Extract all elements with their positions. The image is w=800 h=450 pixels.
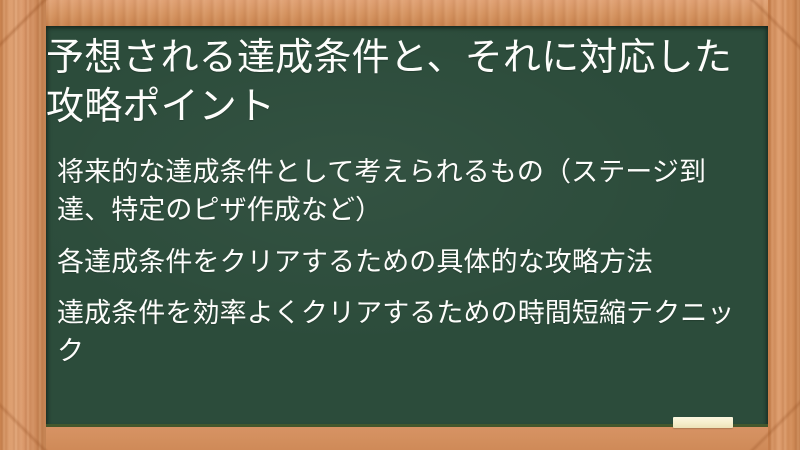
slide-bullet-list: 将来的な達成条件として考えられるもの（ステージ到達、特定のピザ作成など） 各達成…: [57, 154, 749, 371]
slide-title: 予想される達成条件と、それに対応した攻略ポイント: [46, 34, 746, 133]
slide-content: 予想される達成条件と、それに対応した攻略ポイント 将来的な達成条件として考えられ…: [46, 26, 768, 427]
chalk-stick-icon: [673, 417, 733, 428]
chalkboard-surface: 予想される達成条件と、それに対応した攻略ポイント 将来的な達成条件として考えられ…: [46, 26, 768, 427]
frame-rail-bottom-ledge: [0, 427, 800, 450]
bullet-item: 将来的な達成条件として考えられるもの（ステージ到達、特定のピザ作成など）: [57, 154, 749, 230]
bullet-item: 各達成条件をクリアするための具体的な攻略方法: [57, 244, 749, 282]
frame-rail-right: [768, 0, 800, 450]
frame-rail-top: [0, 0, 800, 26]
chalkboard-bottom-edge: [46, 424, 768, 427]
bullet-item: 達成条件を効率よくクリアするための時間短縮テクニック: [57, 295, 749, 371]
chalkboard-slide: 予想される達成条件と、それに対応した攻略ポイント 将来的な達成条件として考えられ…: [0, 0, 800, 450]
frame-rail-left: [0, 0, 46, 450]
